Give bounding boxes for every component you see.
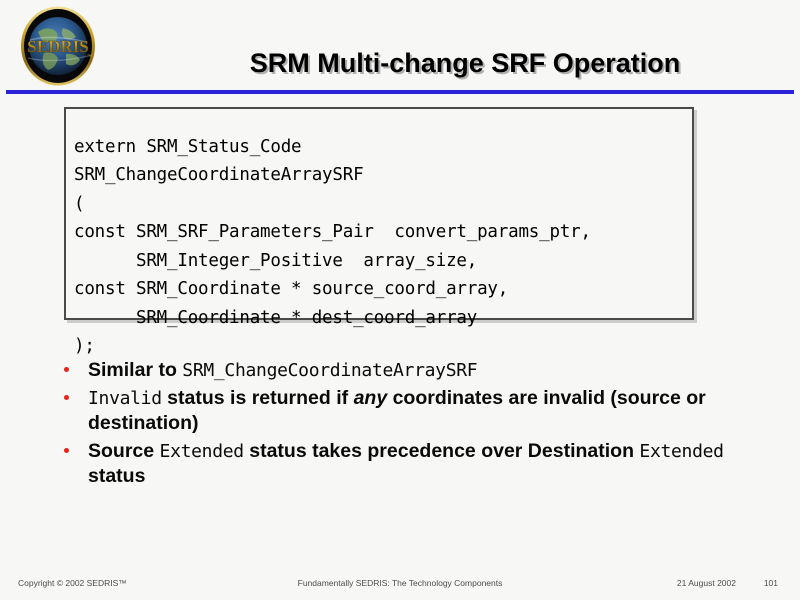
slide-header: SEDRIS ™ SRM Multi-change SRF Operation xyxy=(0,0,800,95)
svg-text:™: ™ xyxy=(87,54,92,60)
bullet-part-mono: Invalid xyxy=(88,388,162,409)
sedris-logo-icon: SEDRIS ™ xyxy=(8,6,108,86)
bullet-dot-icon xyxy=(64,367,69,372)
page-title: SRM Multi-change SRF Operation xyxy=(140,48,790,79)
bullet-dot-icon xyxy=(64,395,69,400)
bullet-part-mono: SRM_ChangeCoordinateArraySRF xyxy=(182,360,477,381)
footer-date: 21 August 2002 xyxy=(677,578,736,588)
sedris-logo-wordmark: SEDRIS xyxy=(27,37,88,56)
bullet-part: status takes precedence over Destination xyxy=(244,440,640,462)
code-block-text: extern SRM_Status_Code SRM_ChangeCoordin… xyxy=(74,133,591,361)
bullet-part: status is returned if xyxy=(162,387,354,409)
bullet-part-italic: any xyxy=(354,387,388,409)
bullet-part: Similar to xyxy=(88,359,182,381)
bullet-part: Source xyxy=(88,440,160,462)
code-block-panel: extern SRM_Status_Code SRM_ChangeCoordin… xyxy=(64,107,694,320)
list-item: Invalid status is returned if any coordi… xyxy=(56,386,776,437)
list-item: Source Extended status takes precedence … xyxy=(56,439,776,490)
slide-footer: Copyright © 2002 SEDRIS™ Fundamentally S… xyxy=(0,566,800,600)
bullet-part-mono: Extended xyxy=(160,441,244,462)
bullet-part-mono: Extended xyxy=(639,441,723,462)
title-divider xyxy=(6,90,794,94)
bullet-part: status xyxy=(88,465,145,487)
list-item: Similar to SRM_ChangeCoordinateArraySRF xyxy=(56,358,776,384)
bullet-list: Similar to SRM_ChangeCoordinateArraySRF … xyxy=(56,358,776,492)
bullet-text-1: Similar to SRM_ChangeCoordinateArraySRF xyxy=(88,359,477,381)
bullet-dot-icon xyxy=(64,448,69,453)
sedris-logo: SEDRIS ™ xyxy=(8,6,108,86)
footer-page-number: 101 xyxy=(764,578,778,588)
bullet-text-2: Invalid status is returned if any coordi… xyxy=(88,387,706,435)
bullet-text-3: Source Extended status takes precedence … xyxy=(88,440,724,488)
